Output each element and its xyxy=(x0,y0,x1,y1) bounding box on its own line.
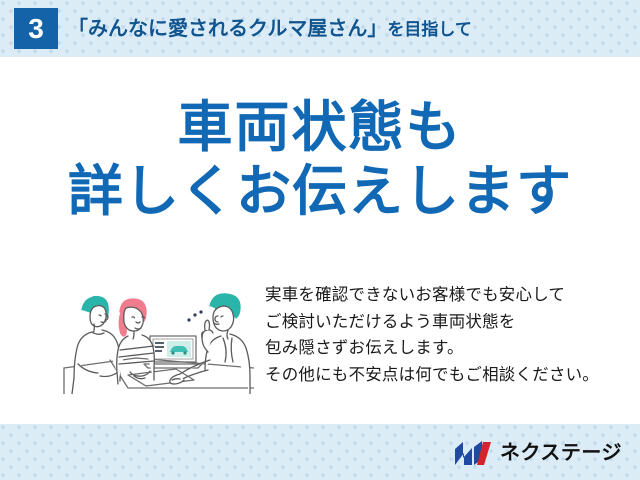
header-title-quoted: 「みんなに愛されるクルマ屋さん」 xyxy=(68,18,387,40)
header-title: 「みんなに愛されるクルマ屋さん」を目指して xyxy=(68,19,472,39)
description-line-4: その他にも不安点は何でもご相談ください。 xyxy=(265,362,615,389)
step-number-badge: 3 xyxy=(14,8,58,49)
headline-line-2: 詳しくお伝えします xyxy=(0,160,640,224)
promo-banner: 3 「みんなに愛されるクルマ屋さん」を目指して 車両状態も 詳しくお伝えします xyxy=(0,0,640,480)
header: 3 「みんなに愛されるクルマ屋さん」を目指して xyxy=(0,0,640,57)
description-line-3: 包み隠さずお伝えします。 xyxy=(265,335,615,362)
headline: 車両状態も 詳しくお伝えします xyxy=(0,96,640,224)
brand-logo-text: ネクステージ xyxy=(500,443,622,463)
headline-line-1: 車両状態も xyxy=(0,96,640,160)
consultation-illustration xyxy=(58,276,254,394)
description-text: 実車を確認できないお客様でも安心して ご検討いただけるよう車両状態を 包み隠さず… xyxy=(265,282,615,389)
nextage-n-mark xyxy=(454,441,492,466)
header-title-suffix: を目指して xyxy=(387,20,472,39)
description-line-2: ご検討いただけるよう車両状態を xyxy=(265,309,615,336)
brand-logo: ネクステージ xyxy=(454,437,622,469)
description-line-1: 実車を確認できないお客様でも安心して xyxy=(265,282,615,309)
